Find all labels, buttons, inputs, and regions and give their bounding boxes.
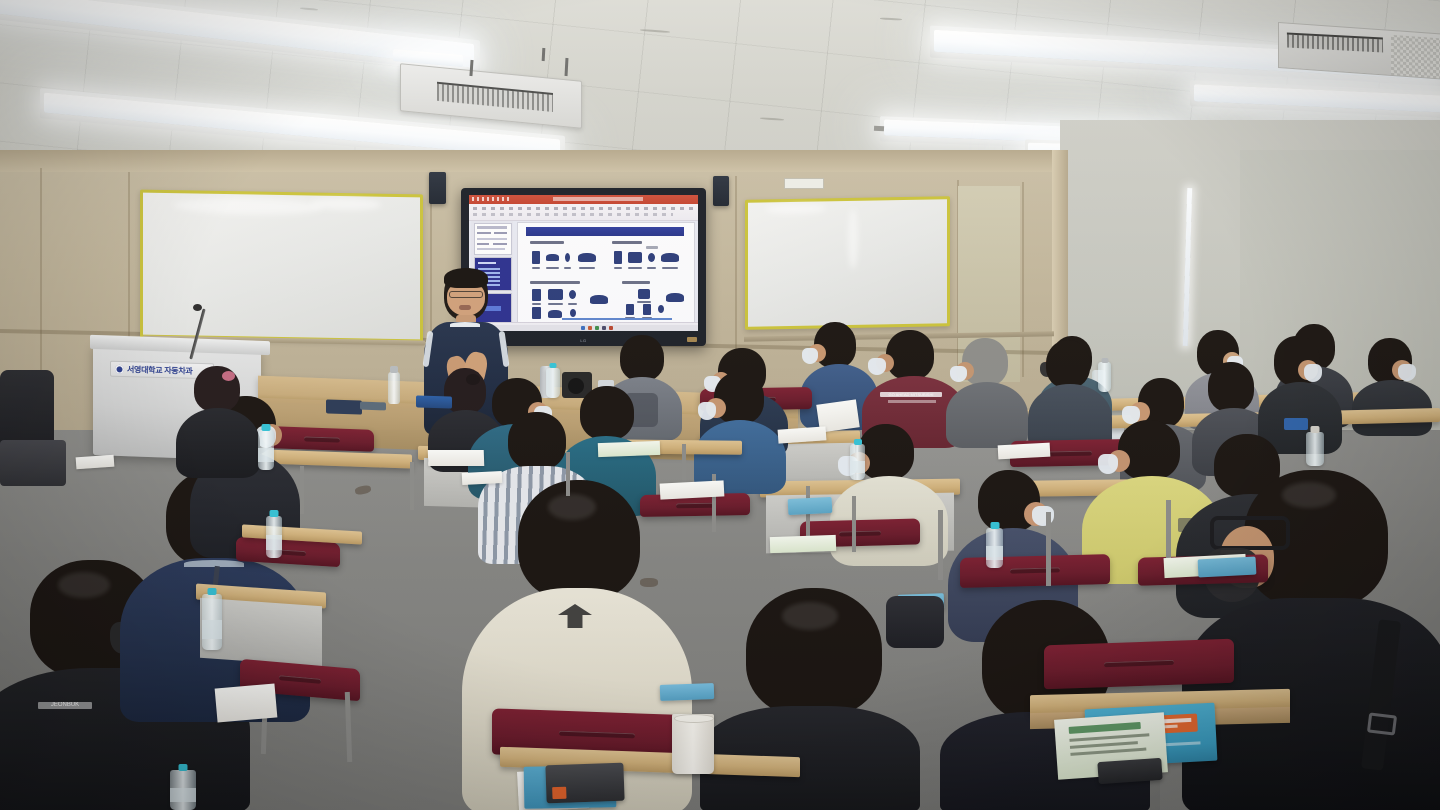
attendee-torso (946, 382, 1028, 448)
chair-leg (410, 462, 414, 510)
tv-brand-logo: LG (580, 338, 586, 343)
whiteboard-right (745, 196, 950, 330)
attendee (946, 338, 1028, 446)
slide-quadrant-2 (612, 241, 684, 277)
bottle-cap (1311, 426, 1320, 433)
bottle-cap (1101, 358, 1108, 363)
handout-paper (660, 480, 725, 499)
lecture-hall-photo: LG 서영대학교 자동차과 (0, 0, 1440, 810)
attendee-torso (176, 408, 260, 478)
tissue-box (1284, 418, 1308, 430)
bottle-cap (262, 424, 271, 431)
textbook (788, 497, 833, 515)
window-title (553, 197, 643, 201)
slide-quadrant-1 (530, 241, 602, 277)
ceiling-sensor (874, 126, 884, 132)
shirt-print-sub (888, 400, 936, 403)
powerpoint-toolbar (469, 204, 698, 221)
chair-leg (566, 452, 570, 496)
chair[interactable] (960, 554, 1110, 588)
face-mask-icon (802, 348, 818, 364)
textbook (660, 683, 715, 701)
slide-quadrant-4 (622, 281, 688, 321)
water-bottle (266, 516, 282, 558)
water-bottle (170, 770, 196, 810)
chair[interactable] (1044, 639, 1234, 690)
attendee-head (858, 424, 914, 480)
attendee-head (1118, 420, 1180, 480)
bottle-cap (550, 363, 557, 368)
face-mask-icon (1304, 364, 1322, 382)
presenter-collar (450, 322, 480, 327)
water-bottle (1306, 432, 1324, 466)
handout-paper (428, 450, 485, 466)
water-bottle (202, 594, 222, 650)
chair-leg (852, 496, 856, 552)
ac-vent (1287, 32, 1383, 52)
wall-top-trim (0, 150, 1090, 172)
face-mask-icon (868, 358, 886, 375)
whiteboard-surface (748, 199, 947, 326)
face-mask-icon (698, 402, 716, 420)
handout-paper (998, 443, 1051, 460)
chair-leg (682, 444, 686, 486)
bottle-cap (990, 522, 999, 529)
wall-sign (784, 178, 824, 189)
attendee-head (620, 335, 664, 381)
ac-vent (437, 82, 553, 112)
bottle-cap (270, 510, 279, 517)
notebook (545, 763, 624, 804)
slide-thumbnail[interactable] (474, 223, 512, 255)
bottle-cap (179, 764, 188, 771)
shirt-print-text: GO AHEAD MITSUBISHI MOTORS (880, 392, 942, 397)
university-seal-icon (115, 364, 124, 373)
water-bottle (1098, 362, 1111, 392)
handout-heading (1069, 722, 1141, 734)
paper-cup (672, 714, 714, 774)
whiteboard-surface (143, 193, 420, 340)
slide-quadrant-3 (530, 281, 616, 321)
handout-paper (215, 683, 278, 722)
chair-leg (938, 510, 943, 580)
face-mask-icon (950, 366, 967, 382)
speaker-left (429, 172, 446, 204)
water-bottle (850, 444, 865, 480)
attendee (694, 372, 786, 492)
paper-cup-rim (674, 714, 714, 723)
chair-leg (1046, 512, 1051, 586)
handout-paper (770, 535, 837, 553)
slide-footer-note (562, 318, 672, 320)
presenter-mouth (459, 305, 471, 310)
textbook (1198, 556, 1257, 577)
handout-paper (462, 471, 503, 485)
attendee-head (508, 412, 566, 470)
handout-paper (598, 441, 660, 457)
attendee-head (1046, 340, 1090, 388)
microphone-head-icon (193, 304, 202, 311)
backpack (886, 596, 944, 648)
attendee-head (1208, 362, 1254, 412)
face-mask-icon (1398, 364, 1416, 381)
smartphone[interactable] (1097, 758, 1162, 784)
bottle-cap (854, 439, 862, 445)
ac-grill (1391, 35, 1440, 79)
tissue-box (416, 395, 452, 408)
attendee (176, 366, 260, 476)
face-mask-icon (1098, 454, 1118, 474)
strap-buckle-icon (1367, 712, 1397, 735)
attendee-head (886, 330, 934, 380)
slide-editing-area[interactable] (517, 222, 695, 325)
water-bottle (258, 430, 274, 470)
chair-leg (300, 466, 304, 514)
notebook-tab (552, 787, 566, 799)
slide-title-bar (526, 227, 684, 236)
whiteboard-left (140, 190, 423, 343)
glasses-icon (1210, 516, 1290, 550)
presenter-hair (444, 268, 488, 288)
chair-leg (1166, 500, 1171, 560)
bottle-cap (208, 588, 217, 595)
glasses-icon (449, 291, 483, 298)
speaker-right (713, 176, 729, 206)
water-bottle (546, 368, 560, 398)
water-bottle (986, 528, 1003, 568)
quick-access-toolbar (472, 197, 512, 201)
hair-tie (222, 371, 235, 381)
bottle-cap (390, 366, 398, 373)
equipment-cable (360, 402, 386, 411)
powerpoint-ribbon (469, 195, 698, 204)
equipment-box (326, 399, 362, 414)
shirt-print-text: JEONBUK (38, 702, 92, 709)
tv-power-led (687, 337, 697, 342)
chair-back (0, 440, 66, 486)
water-bottle (388, 372, 400, 404)
